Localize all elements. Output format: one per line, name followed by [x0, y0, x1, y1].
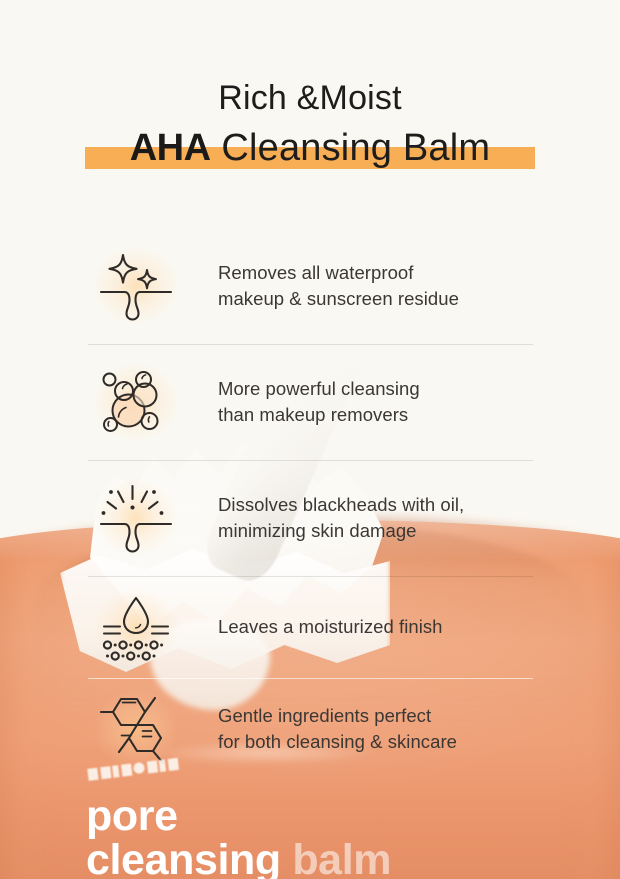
feature-row: Leaves a moisturized finish	[0, 576, 620, 678]
product-name-line-2-soft: balm	[292, 836, 391, 879]
feature-row: Dissolves blackheads with oil, minimizin…	[0, 460, 620, 576]
feature-text-line: minimizing skin damage	[218, 518, 580, 544]
headline-block: Rich &Moist AHA Cleansing Balm	[0, 78, 620, 179]
feature-text: Leaves a moisturized finish	[184, 614, 580, 640]
feature-row: More powerful cleansing than makeup remo…	[0, 344, 620, 460]
product-name-line-2-main: cleansing	[86, 836, 281, 879]
product-infographic-poster: Rich &Moist AHA Cleansing Balm	[0, 0, 620, 879]
feature-text-line: Dissolves blackheads with oil,	[218, 492, 580, 518]
product-name-line-2: cleansing balm	[86, 839, 391, 879]
row-divider	[88, 344, 533, 345]
blackhead-burst-pore-icon	[88, 475, 184, 561]
poster-content: Rich &Moist AHA Cleansing Balm	[0, 0, 620, 879]
feature-text: Removes all waterproof makeup & sunscree…	[184, 260, 580, 313]
headline-line-2: AHA Cleansing Balm	[0, 125, 620, 173]
feature-text: Dissolves blackheads with oil, minimizin…	[184, 492, 580, 545]
feature-text-line: Gentle ingredients perfect	[218, 703, 580, 729]
row-divider	[88, 576, 533, 577]
feature-text: Gentle ingredients perfect for both clea…	[184, 703, 580, 756]
headline-line-1: Rich &Moist	[0, 78, 620, 119]
feature-row: Removes all waterproof makeup & sunscree…	[0, 228, 620, 344]
feature-text-line: More powerful cleansing	[218, 376, 580, 402]
product-name-line-1: pore	[86, 792, 178, 840]
feature-text-line: Removes all waterproof	[218, 260, 580, 286]
feature-text-line: than makeup removers	[218, 402, 580, 428]
bubbles-icon	[88, 359, 184, 445]
aha-badge-text: AHA	[130, 127, 211, 169]
feature-text-line: makeup & sunscreen residue	[218, 286, 580, 312]
product-branding: pore cleansing balm	[86, 763, 391, 879]
feature-text-line: Leaves a moisturized finish	[218, 614, 580, 640]
water-droplet-skin-icon	[88, 584, 184, 670]
feature-list: Removes all waterproof makeup & sunscree…	[0, 228, 620, 780]
product-name: pore cleansing balm	[86, 795, 391, 879]
sparkle-pore-icon	[88, 243, 184, 329]
feature-text-line: for both cleansing & skincare	[218, 729, 580, 755]
headline-line-2-rest: Cleansing Balm	[211, 127, 491, 169]
row-divider	[88, 678, 533, 679]
feature-text: More powerful cleansing than makeup remo…	[184, 376, 580, 429]
headline-line-2-wrapper: AHA Cleansing Balm	[0, 125, 620, 179]
row-divider	[88, 460, 533, 461]
